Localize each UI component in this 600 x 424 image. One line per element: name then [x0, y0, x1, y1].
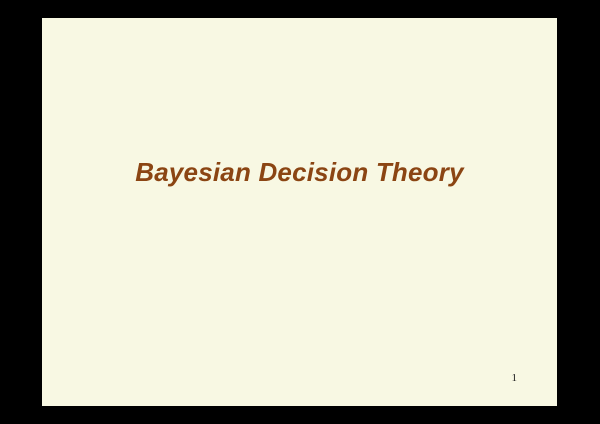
- slide-number: 1: [512, 373, 518, 384]
- presentation-viewport: Bayesian Decision Theory 1: [0, 0, 600, 424]
- slide-title: Bayesian Decision Theory: [135, 158, 463, 188]
- slide-title-block: Bayesian Decision Theory: [42, 158, 557, 188]
- slide-canvas[interactable]: Bayesian Decision Theory 1: [42, 18, 557, 406]
